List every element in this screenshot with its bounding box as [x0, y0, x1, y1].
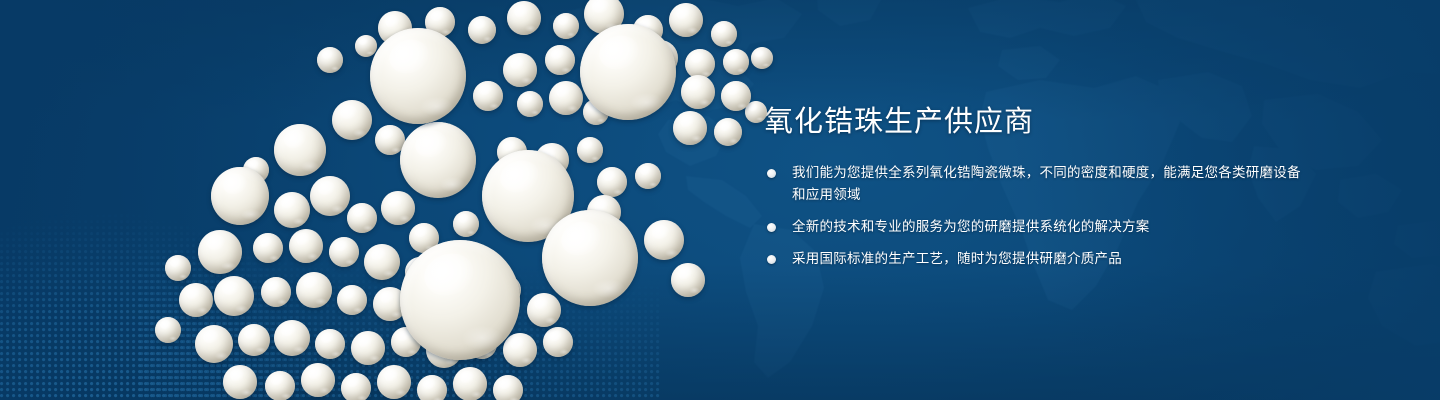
ceramic-bead [503, 333, 537, 367]
ceramic-bead [527, 293, 561, 327]
ceramic-bead [723, 49, 749, 75]
banner-content: 氧化锆珠生产供应商 我们能为您提供全系列氧化锆陶瓷微珠，不同的密度和硬度，能满足… [762, 104, 1302, 270]
ceramic-bead [261, 277, 291, 307]
ceramic-bead [453, 211, 479, 237]
list-item: 采用国际标准的生产工艺，随时为您提供研磨介质产品 [762, 248, 1302, 270]
ceramic-bead [223, 365, 257, 399]
ceramic-bead [503, 53, 537, 87]
ceramic-bead [507, 1, 541, 35]
ceramic-bead [155, 317, 181, 343]
hero-banner: 氧化锆珠生产供应商 我们能为您提供全系列氧化锆陶瓷微珠，不同的密度和硬度，能满足… [0, 0, 1440, 400]
list-item-text: 我们能为您提供全系列氧化锆陶瓷微珠，不同的密度和硬度，能满足您各类研磨设备和应用… [792, 165, 1301, 203]
ceramic-bead [468, 16, 496, 44]
ceramic-bead [751, 47, 773, 69]
list-item-text: 采用国际标准的生产工艺，随时为您提供研磨介质产品 [792, 251, 1122, 267]
bullet-dot-icon [767, 223, 776, 232]
ceramic-bead [453, 367, 487, 400]
ceramic-bead [711, 21, 737, 47]
ceramic-bead [317, 47, 343, 73]
ceramic-bead [635, 163, 661, 189]
ceramic-bead [265, 371, 295, 400]
ceramic-bead [673, 111, 707, 145]
list-item: 我们能为您提供全系列氧化锆陶瓷微珠，不同的密度和硬度，能满足您各类研磨设备和应用… [762, 162, 1302, 206]
ceramic-bead [493, 375, 523, 400]
ceramic-bead [274, 124, 326, 176]
bullet-dot-icon [767, 169, 776, 178]
ceramic-bead [381, 191, 415, 225]
ceramic-bead [179, 283, 213, 317]
ceramic-bead [355, 35, 377, 57]
ceramic-bead [545, 45, 575, 75]
ceramic-bead [517, 91, 543, 117]
ceramic-bead [644, 220, 684, 260]
ceramic-bead [341, 373, 371, 400]
ceramic-bead [549, 81, 583, 115]
ceramic-bead [597, 167, 627, 197]
ceramic-bead [681, 75, 715, 109]
ceramic-bead [274, 192, 310, 228]
ceramic-bead [238, 324, 270, 356]
ceramic-bead [337, 285, 367, 315]
ceramic-bead [669, 3, 703, 37]
ceramic-bead [671, 263, 705, 297]
bullet-dot-icon [767, 255, 776, 264]
list-item-text: 全新的技术和专业的服务为您的研磨提供系统化的解决方案 [792, 219, 1150, 235]
ceramic-bead [274, 320, 310, 356]
ceramic-bead [347, 203, 377, 233]
ceramic-bead [370, 28, 466, 124]
ceramic-bead [214, 276, 254, 316]
ceramic-bead [473, 81, 503, 111]
ceramic-bead [165, 255, 191, 281]
ceramic-bead [400, 240, 520, 360]
ceramic-bead [195, 325, 233, 363]
ceramic-bead [296, 272, 332, 308]
ceramic-bead [543, 327, 573, 357]
ceramic-bead [364, 244, 400, 280]
ceramic-bead [315, 329, 345, 359]
ceramic-bead [329, 237, 359, 267]
ceramic-bead [351, 331, 385, 365]
ceramic-bead [310, 176, 350, 216]
feature-list: 我们能为您提供全系列氧化锆陶瓷微珠，不同的密度和硬度，能满足您各类研磨设备和应用… [762, 162, 1302, 270]
ceramic-bead [211, 167, 269, 225]
ceramic-bead [417, 375, 447, 400]
ceramic-bead [301, 363, 335, 397]
ceramic-bead [553, 13, 579, 39]
list-item: 全新的技术和专业的服务为您的研磨提供系统化的解决方案 [762, 216, 1302, 238]
ceramic-bead [542, 210, 638, 306]
ceramic-bead [253, 233, 283, 263]
ceramic-bead [332, 100, 372, 140]
ceramic-bead [289, 229, 323, 263]
ceramic-bead [714, 118, 742, 146]
ceramic-bead [721, 81, 751, 111]
ceramic-bead [577, 137, 603, 163]
ceramic-bead [400, 122, 476, 198]
ceramic-bead [198, 230, 242, 274]
ceramic-bead [580, 24, 676, 120]
page-title: 氧化锆珠生产供应商 [764, 104, 1302, 138]
zirconia-beads-photo [0, 0, 760, 400]
ceramic-bead [377, 365, 411, 399]
